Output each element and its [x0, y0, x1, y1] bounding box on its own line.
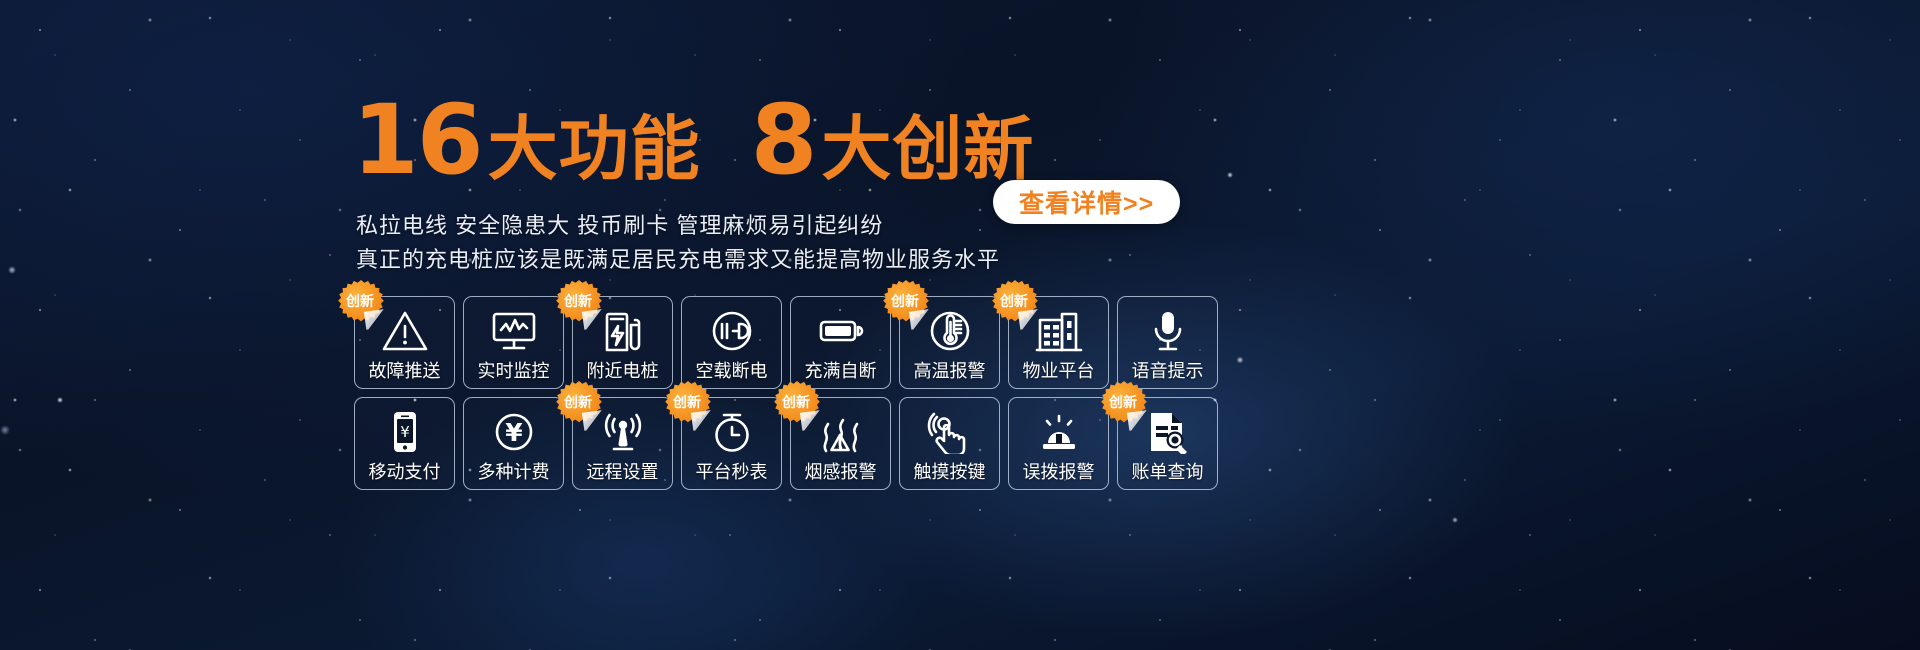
subtitle-line-2: 真正的充电桩应该是既满足居民充电需求又能提高物业服务水平	[356, 242, 1000, 274]
warning-triangle-icon	[381, 306, 429, 356]
feature-tile[interactable]: 创新物业平台	[1008, 296, 1109, 389]
innovation-badge: 创新	[665, 381, 711, 427]
feature-row: 创新故障推送实时监控创新附近电桩空载断电充满自断创新高温报警创新物业平台语音提示	[354, 296, 1218, 389]
headline-number-2: 8	[751, 92, 816, 188]
feature-tile[interactable]: 创新故障推送	[354, 296, 455, 389]
feature-tile[interactable]: 误拨报警	[1008, 397, 1109, 490]
innovation-badge: 创新	[338, 280, 384, 326]
view-details-button[interactable]: 查看详情>>	[993, 180, 1180, 224]
feature-tile[interactable]: 创新附近电桩	[572, 296, 673, 389]
headline-number-1: 16	[352, 92, 482, 188]
feature-label: 远程设置	[587, 458, 659, 484]
feature-grid: 创新故障推送实时监控创新附近电桩空载断电充满自断创新高温报警创新物业平台语音提示…	[354, 296, 1218, 490]
feature-label: 实时监控	[478, 357, 550, 383]
headline-text-2: 大创新	[821, 114, 1034, 184]
feature-tile[interactable]: 充满自断	[790, 296, 891, 389]
monitor-waveform-icon	[490, 306, 538, 356]
feature-tile[interactable]: 触摸按键	[899, 397, 1000, 490]
svg-text:¥: ¥	[505, 418, 523, 447]
plug-icon	[708, 306, 756, 356]
feature-row: ¥移动支付¥多种计费创新远程设置创新平台秒表创新烟感报警触摸按键误拨报警创新账单…	[354, 397, 1218, 490]
feature-label: 空载断电	[696, 357, 768, 383]
feature-label: 烟感报警	[805, 458, 877, 484]
innovation-badge-label: 创新	[673, 395, 701, 409]
innovation-badge: 创新	[556, 381, 602, 427]
feature-tile[interactable]: 创新账单查询	[1117, 397, 1218, 490]
feature-label: 平台秒表	[696, 458, 768, 484]
feature-label: 账单查询	[1132, 458, 1204, 484]
feature-label: 移动支付	[369, 458, 441, 484]
innovation-badge-label: 创新	[564, 395, 592, 409]
innovation-badge-label: 创新	[346, 294, 374, 308]
building-icon	[1035, 306, 1083, 356]
charging-pile-icon	[599, 306, 647, 356]
antenna-signal-icon	[599, 407, 647, 457]
feature-tile[interactable]: 创新平台秒表	[681, 397, 782, 490]
feature-label: 误拨报警	[1023, 458, 1095, 484]
innovation-badge-label: 创新	[782, 395, 810, 409]
thermometer-icon	[926, 306, 974, 356]
subtitle-line-1: 私拉电线 安全隐患大 投币刷卡 管理麻烦易引起纠纷	[356, 208, 883, 240]
yuan-circle-icon: ¥	[490, 407, 538, 457]
mobile-pay-icon: ¥	[381, 407, 429, 457]
siren-icon	[1035, 407, 1083, 457]
innovation-badge: 创新	[992, 280, 1038, 326]
feature-label: 语音提示	[1132, 357, 1204, 383]
feature-label: 触摸按键	[914, 458, 986, 484]
feature-label: 多种计费	[478, 458, 550, 484]
feature-tile[interactable]: 语音提示	[1117, 296, 1218, 389]
innovation-badge-label: 创新	[564, 294, 592, 308]
innovation-badge-label: 创新	[891, 294, 919, 308]
feature-tile[interactable]: 实时监控	[463, 296, 564, 389]
innovation-badge-label: 创新	[1109, 395, 1137, 409]
battery-full-icon	[817, 306, 865, 356]
feature-tile[interactable]: 创新烟感报警	[790, 397, 891, 490]
innovation-badge: 创新	[1101, 381, 1147, 427]
svg-text:¥: ¥	[400, 423, 410, 441]
smoke-alarm-icon	[817, 407, 865, 457]
innovation-badge: 创新	[556, 280, 602, 326]
feature-label: 附近电桩	[587, 357, 659, 383]
feature-tile[interactable]: 创新高温报警	[899, 296, 1000, 389]
innovation-badge: 创新	[883, 280, 929, 326]
feature-label: 物业平台	[1023, 357, 1095, 383]
headline-text-1: 大功能	[488, 114, 701, 184]
headline: 16 大功能 8 大创新	[352, 92, 1034, 188]
feature-label: 充满自断	[805, 357, 877, 383]
innovation-badge-label: 创新	[1000, 294, 1028, 308]
feature-tile[interactable]: 空载断电	[681, 296, 782, 389]
touch-hand-icon	[926, 407, 974, 457]
innovation-badge: 创新	[774, 381, 820, 427]
feature-label: 故障推送	[369, 357, 441, 383]
stopwatch-icon	[708, 407, 756, 457]
microphone-icon	[1144, 306, 1192, 356]
feature-tile[interactable]: 创新远程设置	[572, 397, 673, 490]
bill-search-icon	[1144, 407, 1192, 457]
feature-tile[interactable]: ¥多种计费	[463, 397, 564, 490]
feature-tile[interactable]: ¥移动支付	[354, 397, 455, 490]
feature-label: 高温报警	[914, 357, 986, 383]
promo-banner: 16 大功能 8 大创新 私拉电线 安全隐患大 投币刷卡 管理麻烦易引起纠纷 真…	[0, 0, 1920, 650]
